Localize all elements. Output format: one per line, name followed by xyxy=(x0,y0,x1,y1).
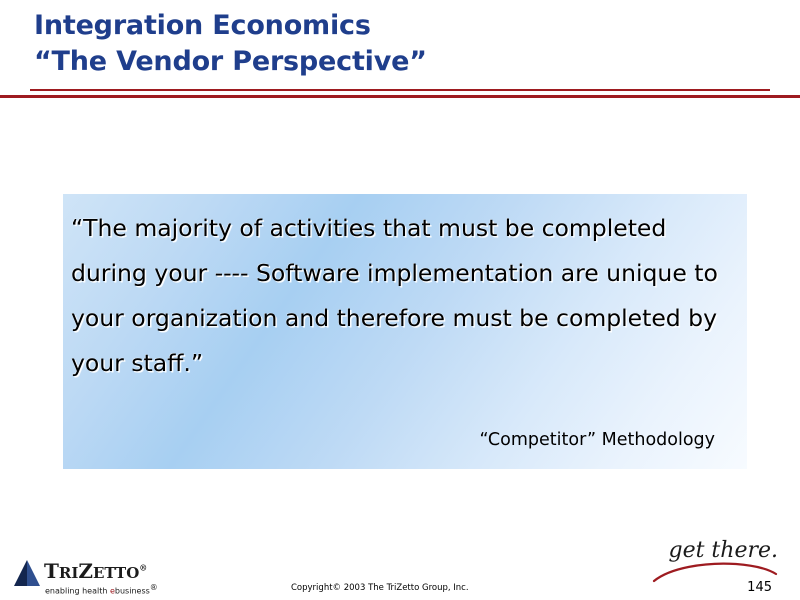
divider-rule-thick xyxy=(0,95,800,98)
quote-text: “The majority of activities that must be… xyxy=(71,206,731,386)
logo-registered-mark: ® xyxy=(139,562,147,572)
logo-wordmark-etto: ETTO xyxy=(93,564,139,582)
divider-rule-thin xyxy=(30,89,770,91)
trizetto-logo: TRIZETTO® enabling health ebusiness® xyxy=(14,558,174,598)
logo-tagline: enabling health ebusiness® xyxy=(45,583,158,596)
tagline-pre: enabling health xyxy=(45,587,110,596)
quote-attribution: “Competitor” Methodology xyxy=(479,430,715,450)
get-there-text: get there. xyxy=(658,538,778,563)
logo-wordmark: TRIZETTO® xyxy=(44,559,147,583)
triangle-logo-icon xyxy=(14,560,40,586)
slide-title: Integration Economics “The Vendor Perspe… xyxy=(34,8,754,80)
red-swoosh-icon xyxy=(652,562,778,584)
title-line-1: Integration Economics xyxy=(34,8,754,44)
tagline-post: business xyxy=(115,587,150,596)
quote-panel: “The majority of activities that must be… xyxy=(63,194,747,469)
logo-wordmark-ri: RI xyxy=(59,564,78,582)
logo-wordmark-t: T xyxy=(44,559,59,583)
slide: Integration Economics “The Vendor Perspe… xyxy=(0,0,800,600)
get-there-tagline: get there. xyxy=(658,538,778,586)
logo-wordmark-z: Z xyxy=(78,559,93,583)
title-line-2: “The Vendor Perspective” xyxy=(34,44,754,80)
tagline-registered-mark: ® xyxy=(150,583,158,592)
copyright-text: Copyright© 2003 The TriZetto Group, Inc. xyxy=(291,583,469,593)
